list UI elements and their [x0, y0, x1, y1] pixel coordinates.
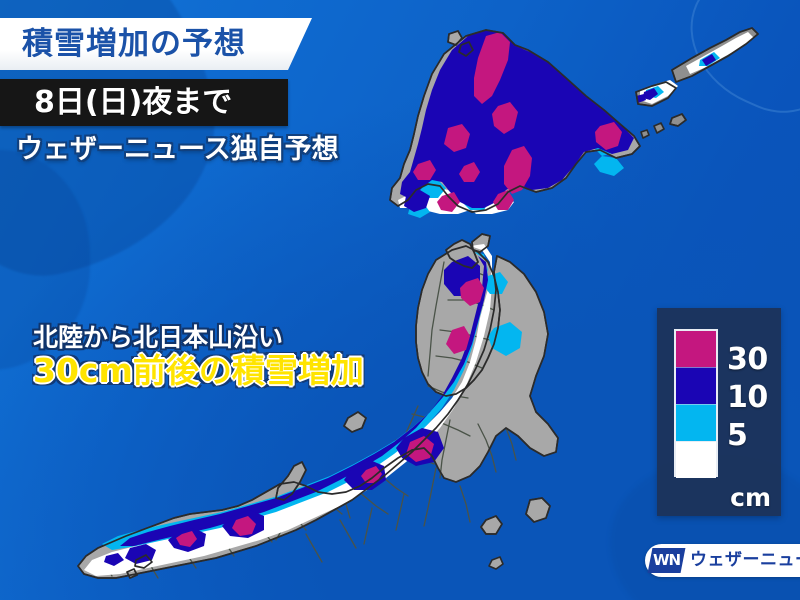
- land-kuril-islet2: [654, 123, 664, 133]
- brand-name-text: ウェザーニュース: [690, 552, 800, 569]
- snow-band-5-10: [102, 52, 720, 550]
- legend-tick-30: 30: [727, 345, 768, 375]
- legend-tick-labels: 30 10 5: [727, 329, 779, 473]
- map-annotation: 北陸から北日本山沿い 30cm前後の積雪増加: [33, 325, 364, 390]
- legend-unit-label: cm: [730, 485, 771, 510]
- annotation-amount-text: 30cm前後の積雪増加: [33, 353, 364, 389]
- source-note-text: ウェザーニュース独自予想: [16, 136, 339, 163]
- legend-band-30plus: [676, 331, 716, 367]
- legend-tick-10: 10: [727, 383, 768, 413]
- land-izu-oshima: [489, 557, 503, 569]
- legend-band-10-30: [676, 367, 716, 404]
- annotation-region-text: 北陸から北日本山沿い: [33, 325, 364, 351]
- headline-title-banner: 積雪増加の予想: [0, 18, 312, 70]
- weather-map-screen: 積雪増加の予想 8日(日)夜まで ウェザーニュース独自予想 北陸から北日本山沿い…: [0, 0, 800, 600]
- legend-band-0-5: [676, 441, 716, 478]
- headline-title-text: 積雪増加の予想: [22, 29, 246, 60]
- wn-mark-icon: WN: [648, 548, 686, 573]
- snow-depth-legend: 30 10 5 cm: [657, 308, 781, 516]
- wn-mark-text: WN: [653, 553, 680, 568]
- forecast-period-banner: 8日(日)夜まで: [0, 79, 288, 126]
- forecast-period-text: 8日(日)夜まで: [34, 88, 232, 118]
- legend-tick-5: 5: [727, 421, 747, 451]
- land-kuril-islet3: [641, 130, 649, 138]
- legend-color-bar: [674, 329, 718, 477]
- weathernews-logo[interactable]: WN ウェザーニュース: [645, 544, 800, 577]
- legend-band-5-10: [676, 404, 716, 441]
